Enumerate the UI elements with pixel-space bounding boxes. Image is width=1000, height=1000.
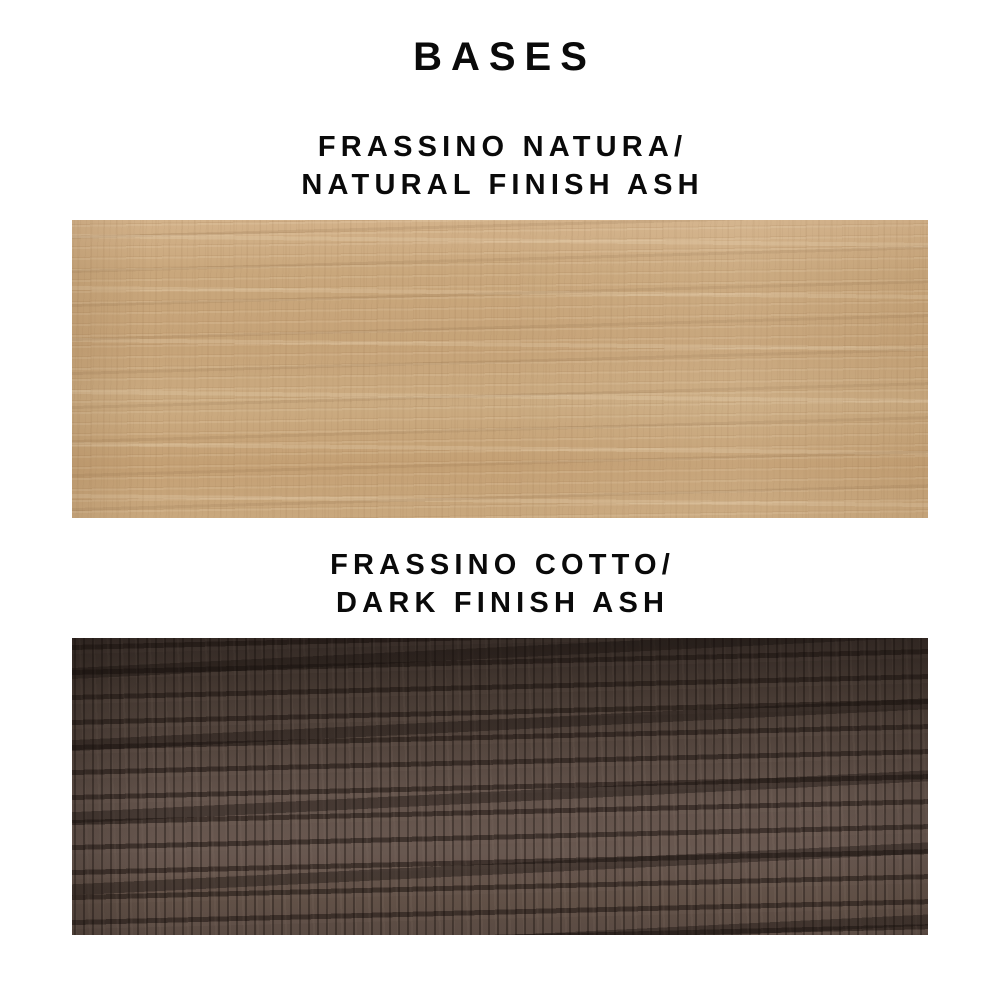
- wood-grain-bands-natural: [72, 220, 928, 518]
- wood-pore-flecks-dark: [72, 638, 928, 935]
- wood-shading-overlay-dark: [72, 638, 928, 935]
- finish-specification-card: BASES FRASSINO NATURA/ NATURAL FINISH AS…: [0, 0, 1000, 1000]
- wood-pore-flecks-natural: [72, 220, 928, 518]
- wood-swatch-dark-ash[interactable]: [72, 638, 928, 935]
- wood-shading-overlay-natural: [72, 220, 928, 518]
- finish-label-line-1-natural: FRASSINO NATURA/: [0, 128, 1000, 166]
- page-title: BASES: [0, 33, 1000, 81]
- wood-swatch-natural-ash[interactable]: [72, 220, 928, 518]
- finish-label-line-2-natural: NATURAL FINISH ASH: [0, 166, 1000, 204]
- finish-label-line-2-dark: DARK FINISH ASH: [0, 584, 1000, 622]
- wood-grain-bands-dark: [72, 638, 928, 935]
- wood-base-layer-natural: [72, 220, 928, 518]
- wood-base-layer-dark: [72, 638, 928, 935]
- wood-grain-arcs-dark: [72, 638, 928, 935]
- wood-grain-streaks-natural: [72, 220, 928, 518]
- finish-label-line-1-dark: FRASSINO COTTO/: [0, 546, 1000, 584]
- finish-option-natural-ash: FRASSINO NATURA/ NATURAL FINISH ASH: [0, 128, 1000, 518]
- finish-option-dark-ash: FRASSINO COTTO/ DARK FINISH ASH: [0, 546, 1000, 935]
